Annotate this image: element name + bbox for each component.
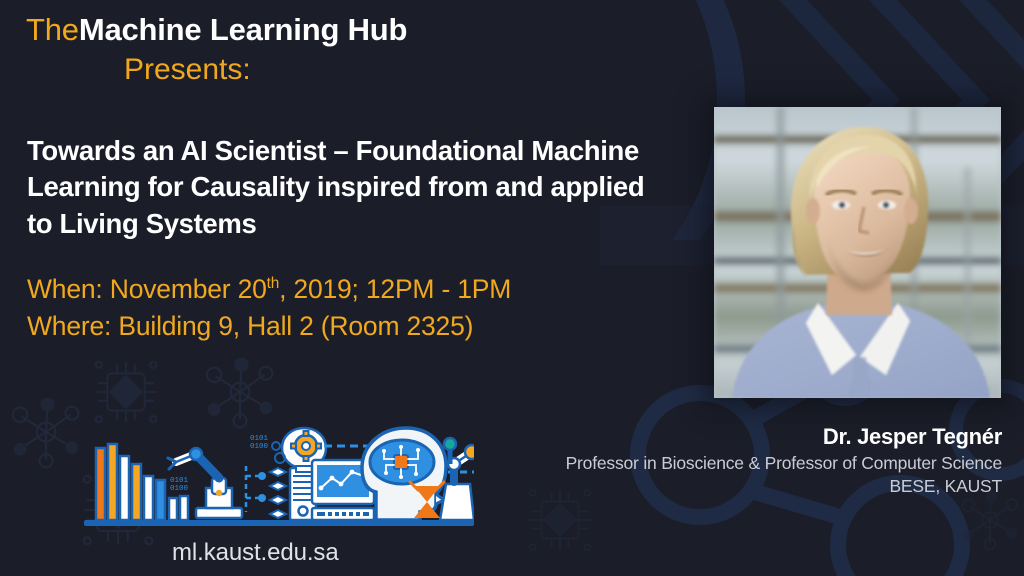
header-the: The (26, 12, 79, 47)
when-time: , 2019; 12PM - 1PM (279, 274, 511, 304)
speaker-photo (714, 107, 1001, 398)
binary-label-1: 0101 (170, 477, 189, 485)
binary-label-2: 0100 (170, 485, 189, 493)
organization-line: TheMachine Learning Hub (26, 14, 407, 45)
event-logistics: When: November 20th, 2019; 12PM - 1PM Wh… (27, 271, 511, 344)
website-url[interactable]: ml.kaust.edu.sa (172, 539, 339, 567)
machine-learning-illustration: 0101 0100 (84, 424, 474, 532)
speaker-name: Dr. Jesper Tegnér (566, 424, 1002, 449)
header-presents: Presents: (124, 55, 407, 85)
speaker-credit: Dr. Jesper Tegnér Professor in Bioscienc… (566, 424, 1002, 498)
event-where-line: Where: Building 9, Hall 2 (Room 2325) (27, 308, 511, 345)
header-organization: Machine Learning Hub (79, 12, 407, 47)
speaker-role: Professor in Bioscience & Professor of C… (566, 452, 1002, 475)
poster-header: TheMachine Learning Hub Presents: (26, 14, 407, 85)
event-when-line: When: November 20th, 2019; 12PM - 1PM (27, 271, 511, 308)
event-poster: TheMachine Learning Hub Presents: Toward… (0, 0, 1024, 576)
when-date: November 20 (110, 274, 267, 304)
page-title: Towards an AI Scientist – Foundational M… (27, 133, 667, 242)
when-ordinal-suffix: th (267, 275, 279, 292)
binary-label-4: 0100 (250, 443, 269, 451)
binary-label-3: 0101 (250, 435, 269, 443)
speaker-affiliation: BESE, KAUST (566, 475, 1002, 498)
when-label: When: (27, 274, 103, 304)
